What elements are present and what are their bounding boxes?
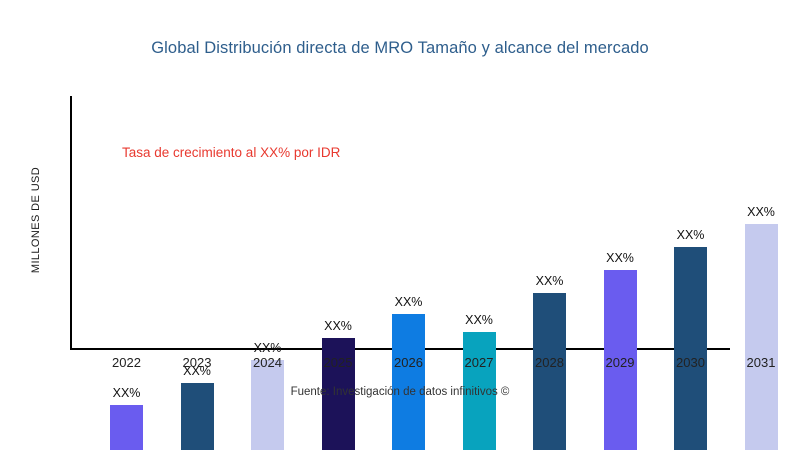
x-tick-2027: 2027 xyxy=(447,355,511,370)
y-axis-line xyxy=(70,96,72,349)
bar-value-label-2029: XX% xyxy=(606,251,634,265)
bar-value-label-2026: XX% xyxy=(395,295,423,309)
bar-2026[interactable] xyxy=(392,314,425,450)
bar-2030[interactable] xyxy=(674,247,707,450)
bar-value-label-2025: XX% xyxy=(324,319,352,333)
bar-value-label-2028: XX% xyxy=(536,274,564,288)
x-tick-2031: 2031 xyxy=(729,355,793,370)
bar-2028[interactable] xyxy=(533,293,566,450)
x-tick-2026: 2026 xyxy=(377,355,441,370)
x-tick-2023: 2023 xyxy=(165,355,229,370)
y-axis-label: MILLONES DE USD xyxy=(30,90,42,350)
source-note: Fuente: Investigación de datos infinitiv… xyxy=(0,386,800,398)
chart-title: Global Distribución directa de MRO Tamañ… xyxy=(0,39,800,58)
bar-2024[interactable] xyxy=(251,360,284,450)
bar-value-label-2027: XX% xyxy=(465,313,493,327)
x-tick-2024: 2024 xyxy=(236,355,300,370)
bar-2031[interactable] xyxy=(745,224,778,450)
growth-rate-annotation: Tasa de crecimiento al XX% por IDR xyxy=(122,145,340,160)
x-tick-2022: 2022 xyxy=(95,355,159,370)
x-tick-2025: 2025 xyxy=(306,355,370,370)
bar-value-label-2030: XX% xyxy=(677,228,705,242)
x-tick-2030: 2030 xyxy=(659,355,723,370)
bar-2022[interactable] xyxy=(110,405,143,450)
x-tick-2029: 2029 xyxy=(588,355,652,370)
bar-value-label-2031: XX% xyxy=(747,205,775,219)
x-tick-2028: 2028 xyxy=(518,355,582,370)
bar-chart-figure: Global Distribución directa de MRO Tamañ… xyxy=(0,0,800,450)
bar-value-label-2024: XX% xyxy=(254,341,282,355)
